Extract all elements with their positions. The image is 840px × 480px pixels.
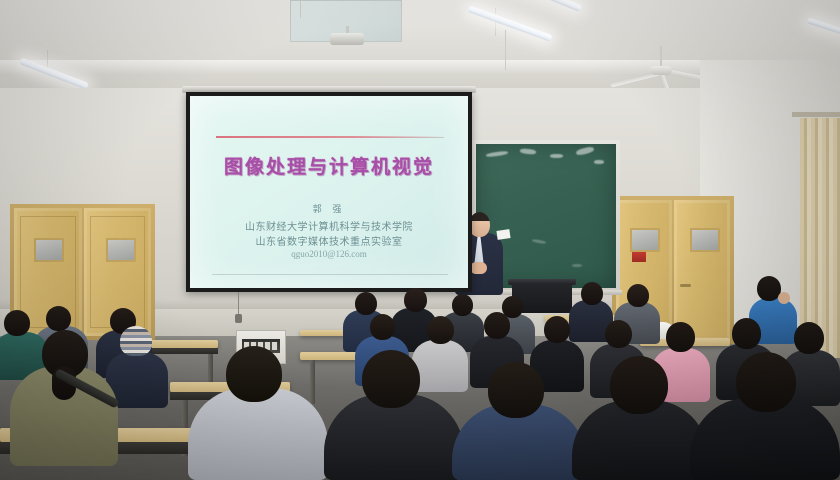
student-head <box>4 310 30 336</box>
student-head <box>605 320 632 348</box>
desk-leg <box>310 360 315 404</box>
student-head <box>732 318 761 349</box>
student-head <box>736 352 796 412</box>
presenter-hands <box>470 262 487 274</box>
door-handle[interactable] <box>680 284 691 287</box>
chalk-mark <box>520 148 536 155</box>
student-head <box>370 314 395 340</box>
door-window-icon <box>630 228 660 252</box>
student-head <box>226 346 282 402</box>
chalk-mark <box>572 264 582 267</box>
slide-accent-bar <box>216 136 444 138</box>
door-leaf-right[interactable] <box>674 200 730 340</box>
ceiling-projector <box>330 33 364 45</box>
presenter-head <box>469 212 490 237</box>
student-head <box>581 282 603 305</box>
student-body <box>412 340 468 392</box>
slide-title: 图像处理与计算机视觉 <box>190 152 468 179</box>
slide-surface: 图像处理与计算机视觉 郭 强 山东财经大学计算机科学与技术学院 山东省数字媒体技… <box>190 96 468 288</box>
light-hanger <box>300 0 301 18</box>
student-head <box>627 284 649 307</box>
door-window-icon <box>106 238 136 262</box>
slide-affiliation-line1: 山东财经大学计算机科学与技术学院 <box>190 218 468 233</box>
chalk-mark <box>550 154 563 158</box>
student-hand <box>778 292 790 304</box>
projection-screen: 图像处理与计算机视觉 郭 强 山东财经大学计算机科学与技术学院 山东省数字媒体技… <box>186 92 472 292</box>
student-head <box>488 362 544 418</box>
student-head <box>362 350 420 408</box>
student-head <box>355 292 377 315</box>
curtain-rod <box>792 112 840 117</box>
ceiling-fan <box>650 66 672 75</box>
chalk-mark <box>594 160 604 164</box>
slide-affiliation-line2: 山东省数字媒体技术重点实验室 <box>190 233 468 248</box>
knit-hat <box>120 326 152 356</box>
slide-presenter-name: 郭 强 <box>190 202 468 215</box>
door-window-icon <box>690 228 720 252</box>
student-head <box>452 294 473 316</box>
slide-email: qguo2010@126.com <box>190 249 468 259</box>
student-head <box>46 306 71 331</box>
screen-pull-cord[interactable] <box>238 292 239 316</box>
student-head <box>610 356 668 414</box>
chalk-mark <box>576 146 595 156</box>
student-head <box>484 312 510 339</box>
classroom-photo: 图像处理与计算机视觉 郭 强 山东财经大学计算机科学与技术学院 山东省数字媒体技… <box>0 0 840 480</box>
name-badge <box>496 229 510 240</box>
student-head <box>427 316 454 344</box>
student-head <box>666 322 695 352</box>
chalk-mark <box>486 150 508 157</box>
student-head <box>544 316 570 343</box>
door-notice-sign <box>632 252 646 262</box>
student-head <box>404 288 427 312</box>
fan-rod <box>660 46 662 68</box>
student-head <box>794 322 824 354</box>
slide-footer-rule <box>212 274 448 275</box>
chalk-mark <box>532 239 546 244</box>
door-window-icon <box>34 238 64 262</box>
screen-cord-weight[interactable] <box>235 314 242 323</box>
light-hanger <box>505 30 506 70</box>
